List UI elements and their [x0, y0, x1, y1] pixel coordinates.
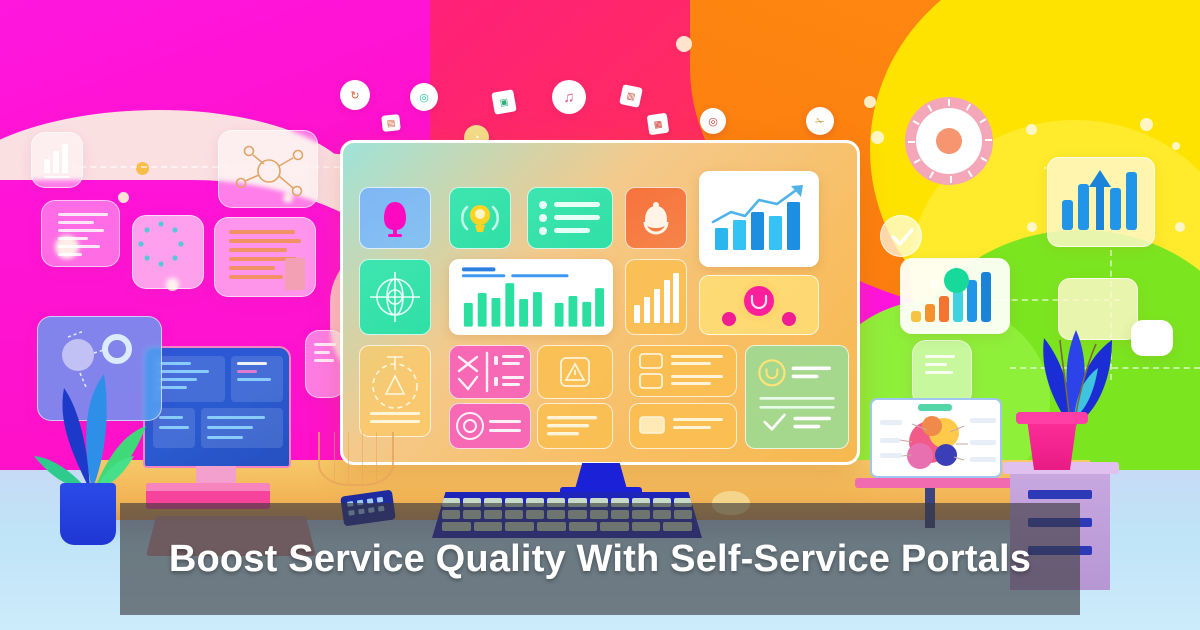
colorful-bar-card	[900, 258, 1010, 334]
music-glyph: ♫	[563, 89, 574, 106]
spacer	[1044, 167, 1046, 169]
checklist-tile[interactable]	[527, 187, 613, 249]
loading-spinner-card	[132, 215, 204, 289]
gauge-alert-tile[interactable]	[359, 345, 431, 437]
refresh-icon: ↻	[340, 80, 370, 110]
photo-icon: ▦	[647, 113, 670, 136]
check-badge-icon	[754, 351, 840, 443]
headset-icon	[453, 407, 527, 445]
global-target-tile[interactable]	[359, 259, 431, 335]
decor-dot	[1175, 222, 1185, 232]
mindmap-icon	[872, 400, 1002, 478]
donut-icon: ◎	[700, 108, 726, 134]
report-document-card	[214, 217, 316, 297]
warning-tile[interactable]	[537, 345, 613, 399]
bar-chart-card[interactable]	[449, 259, 613, 335]
dashboard-grid	[359, 159, 841, 446]
main-dashboard-screen[interactable]	[340, 140, 860, 465]
frame-icon: ▣	[491, 89, 516, 114]
verified-check-badge	[880, 215, 922, 257]
list-icon	[534, 195, 606, 241]
music-note-icon: ♫	[552, 80, 586, 114]
idea-tile[interactable]	[449, 187, 511, 249]
decor-dot	[676, 36, 692, 52]
task-list-icon	[635, 349, 731, 393]
check-icon	[881, 216, 923, 258]
donut-glyph: ◎	[708, 115, 718, 128]
potted-plant	[30, 330, 160, 500]
gift-glyph: ▥	[626, 90, 637, 103]
workflow-tile[interactable]	[449, 345, 531, 399]
frame-glyph: ▣	[499, 96, 509, 108]
shuffle-list-icon	[453, 349, 527, 395]
growth-arrow-card	[1047, 157, 1155, 247]
text-lines-icon	[543, 410, 607, 442]
rocket-glyph: ✁	[815, 115, 824, 128]
title-overlay: Boost Service Quality With Self-Service …	[120, 503, 1080, 615]
poster-canvas: ↻ ▤ ◎ ◔ ▣ ♫ ▥ ▦ ◎ ✁	[0, 0, 1200, 630]
card-icon: ▤	[381, 114, 401, 132]
tasks-list-tile[interactable]	[629, 345, 737, 397]
bar-chart-icon	[456, 265, 606, 329]
mini-bar-chart-card	[31, 132, 83, 188]
network-nodes-icon	[707, 280, 811, 330]
plant-pot-rim	[1016, 412, 1088, 424]
text-document-card	[41, 200, 120, 267]
gauge-icon	[362, 350, 428, 432]
rocket-icon: ✁	[806, 107, 834, 135]
up-arrow-icon	[1088, 168, 1112, 230]
ticket-list-icon	[635, 407, 731, 445]
potted-plant	[1000, 300, 1150, 430]
monitor-neck	[575, 463, 627, 489]
support-contact-tile[interactable]	[449, 403, 531, 449]
drawer	[1028, 490, 1092, 499]
lightbulb-icon	[457, 195, 503, 241]
decor-dot	[1027, 222, 1037, 232]
spinner-icon	[133, 216, 189, 272]
wire-basket	[318, 432, 394, 486]
support-ticket-tile[interactable]	[629, 403, 737, 449]
green-indicator-dot	[944, 268, 969, 293]
right-note-card	[912, 340, 972, 406]
desk-monitor[interactable]	[143, 346, 291, 468]
page-title: Boost Service Quality With Self-Service …	[149, 538, 1051, 581]
notification-tile[interactable]	[625, 187, 687, 249]
ring-glyph: ◎	[419, 91, 429, 104]
decor-dot	[864, 96, 876, 108]
gift-icon: ▥	[619, 84, 643, 108]
laptop-mindmap[interactable]	[870, 398, 1002, 478]
warning-triangle-icon	[553, 350, 597, 394]
side-note-card	[305, 330, 345, 398]
approved-card[interactable]	[745, 345, 849, 449]
network-hub-tile[interactable]	[699, 275, 819, 335]
growth-chart-card[interactable]	[699, 171, 819, 267]
note-lines-tile[interactable]	[537, 403, 613, 449]
ring-icon: ◎	[410, 83, 438, 111]
card-glyph: ▤	[386, 117, 396, 129]
gauge-center	[936, 128, 962, 154]
user-profile-tile[interactable]	[359, 187, 431, 249]
monitor-base-top	[146, 483, 270, 491]
decor-dot	[871, 131, 884, 144]
trending-up-chart-icon	[707, 182, 811, 256]
person-icon	[373, 196, 417, 240]
decor-dot	[136, 162, 149, 175]
speed-gauge-dial	[905, 97, 993, 185]
decor-dot	[1172, 142, 1180, 150]
plant-pot	[60, 483, 116, 545]
decor-dot	[1026, 124, 1037, 135]
ascending-bars-icon	[631, 269, 681, 325]
refresh-glyph: ↻	[350, 89, 359, 102]
metrics-bars-tile[interactable]	[625, 259, 687, 335]
photo-glyph: ▦	[653, 118, 663, 130]
decor-dot	[1140, 118, 1153, 131]
globe-target-icon	[366, 268, 424, 326]
network-icon	[219, 131, 319, 209]
bell-icon	[634, 196, 678, 240]
decor-dot	[118, 192, 129, 203]
network-diagram-card	[218, 130, 318, 208]
monitor-stand	[196, 466, 236, 484]
laptop-base	[855, 478, 1017, 488]
